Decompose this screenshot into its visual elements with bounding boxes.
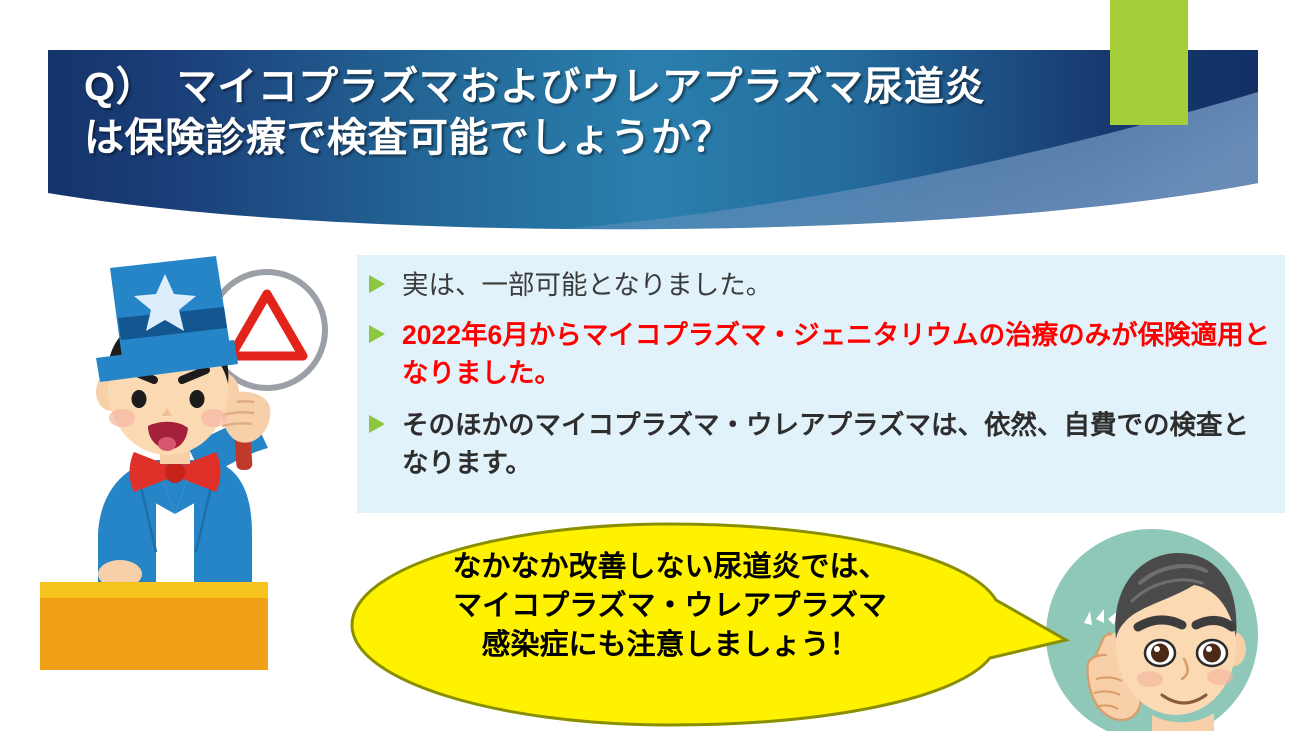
speech-bubble-text: なかなか改善しない尿道炎では、 マイコプラズマ・ウレアプラズマ 感染症にも注意し… bbox=[390, 548, 950, 665]
green-triangle-bullet-icon bbox=[368, 414, 386, 434]
speech-bubble-line: 感染症にも注意しましょう！ bbox=[390, 626, 950, 665]
green-triangle-bullet-icon bbox=[368, 274, 386, 294]
speech-bubble-line: なかなか改善しない尿道炎では、 bbox=[390, 548, 950, 587]
podium bbox=[40, 582, 268, 670]
pointing-man-avatar bbox=[1044, 527, 1260, 731]
content-panel: 実は、一部可能となりました。 2022年6月からマイコプラズマ・ジェニタリウムの… bbox=[357, 255, 1285, 513]
speech-bubble-line: マイコプラズマ・ウレアプラズマ bbox=[390, 587, 950, 626]
presenter-top-hat bbox=[96, 256, 238, 382]
slide-canvas: Q） マイコプラズマおよびウレアプラズマ尿道炎 は保険診療で検査可能でしょうか？ bbox=[0, 0, 1299, 731]
presenter-with-magnifier-illustration bbox=[38, 252, 328, 704]
bullet-text-emphasis: 2022年6月からマイコプラズマ・ジェニタリウムの治療のみが保険適用となりました… bbox=[402, 317, 1274, 392]
speech-bubble: なかなか改善しない尿道炎では、 マイコプラズマ・ウレアプラズマ 感染症にも注意し… bbox=[330, 518, 1070, 731]
bullet-item: 2022年6月からマイコプラズマ・ジェニタリウムの治療のみが保険適用となりました… bbox=[368, 317, 1274, 392]
green-triangle-bullet-icon bbox=[368, 324, 386, 344]
page-title: Q） マイコプラズマおよびウレアプラズマ尿道炎 は保険診療で検査可能でしょうか？ bbox=[84, 62, 1114, 164]
bullet-text: 実は、一部可能となりました。 bbox=[402, 267, 772, 305]
title-line-2: は保険診療で検査可能でしょうか？ bbox=[84, 113, 1114, 164]
bullet-item: 実は、一部可能となりました。 bbox=[368, 267, 1274, 305]
bullet-item: そのほかのマイコプラズマ・ウレアプラズマは、依然、自費での検査となります。 bbox=[368, 407, 1274, 482]
bullet-text: そのほかのマイコプラズマ・ウレアプラズマは、依然、自費での検査となります。 bbox=[402, 407, 1274, 482]
title-line-1: Q） マイコプラズマおよびウレアプラズマ尿道炎 bbox=[84, 62, 1114, 113]
green-accent-bar bbox=[1110, 0, 1188, 125]
